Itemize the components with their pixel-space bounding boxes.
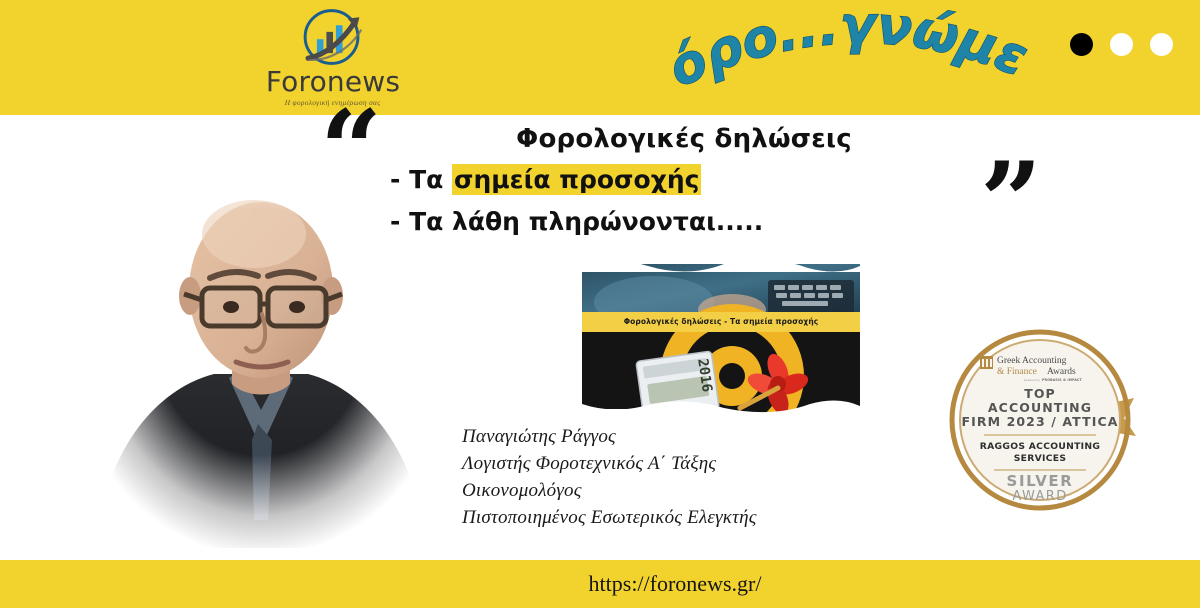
footer-url[interactable]: https://foronews.gr/ bbox=[0, 560, 1200, 608]
byline-role-2: Οικονομολόγος bbox=[462, 478, 757, 505]
headline-line-3: - Τα λάθη πληρώνονται..... bbox=[380, 207, 960, 236]
arched-title: Φόρο...γνώμες bbox=[648, 6, 1038, 110]
badge-tier-line-2: AWARD bbox=[1012, 489, 1067, 504]
byline-role-1: Λογιστής Φοροτεχνικός Α΄ Τάξης bbox=[462, 451, 757, 478]
headline-line-2-prefix: - Τα bbox=[390, 165, 452, 194]
headline-line-2: - Τα σημεία προσοχής bbox=[380, 165, 960, 194]
thumbnail-caption: Φορολογικές δηλώσεις - Τα σημεία προσοχή… bbox=[582, 312, 860, 331]
byline-block: Παναγιώτης Ράγγος Λογιστής Φοροτεχνικός … bbox=[462, 424, 757, 532]
award-badge: Greek Accounting & Finance Awards powere… bbox=[948, 328, 1143, 513]
article-thumbnail[interactable]: 2016 Φορολογικές δηλώσεις - Τα σημεία πρ… bbox=[582, 258, 860, 416]
thumbnail-artwork: 2016 bbox=[582, 258, 860, 416]
chart-arrow-globe-icon bbox=[296, 4, 370, 70]
headline-line-1: Φορολογικές δηλώσεις bbox=[380, 124, 960, 154]
dot-2-icon bbox=[1110, 33, 1133, 56]
quote-open-icon: “ bbox=[320, 96, 382, 204]
badge-org-line-2a: & Finance bbox=[997, 367, 1037, 377]
byline-role-3: Πιστοποιημένος Εσωτερικός Ελεγκτής bbox=[462, 505, 757, 532]
header-dots bbox=[1070, 33, 1173, 56]
badge-tier-line-1: SILVER bbox=[1007, 472, 1074, 490]
arched-title-text: Φόρο...γνώμες bbox=[626, 0, 1036, 100]
headline-block: Φορολογικές δηλώσεις - Τα σημεία προσοχή… bbox=[380, 124, 960, 236]
badge-firm-line-2: SERVICES bbox=[1014, 453, 1067, 464]
badge-org-line-2b: Awards bbox=[1047, 367, 1076, 377]
foronews-promo-card: Foronews Η φορολογική ενημέρωση σας Φόρο… bbox=[0, 0, 1200, 608]
byline-name: Παναγιώτης Ράγγος bbox=[462, 424, 757, 451]
badge-firm-line-1: RAGGOS ACCOUNTING bbox=[980, 441, 1100, 452]
badge-title-line-3: FIRM 2023 / ATTICA bbox=[961, 414, 1118, 429]
quote-close-icon: ” bbox=[980, 148, 1042, 256]
headline-highlight: σημεία προσοχής bbox=[452, 164, 701, 195]
badge-powered-by: PROBASIS & IMPACT bbox=[1042, 378, 1083, 382]
badge-title-line-2: ACCOUNTING bbox=[988, 400, 1092, 415]
badge-powered-label: powered by bbox=[1024, 379, 1040, 382]
dot-3-icon bbox=[1150, 33, 1173, 56]
badge-org-line-1: Greek Accounting bbox=[997, 356, 1067, 366]
badge-title-line-1: TOP bbox=[1024, 386, 1056, 401]
dot-1-icon bbox=[1070, 33, 1093, 56]
